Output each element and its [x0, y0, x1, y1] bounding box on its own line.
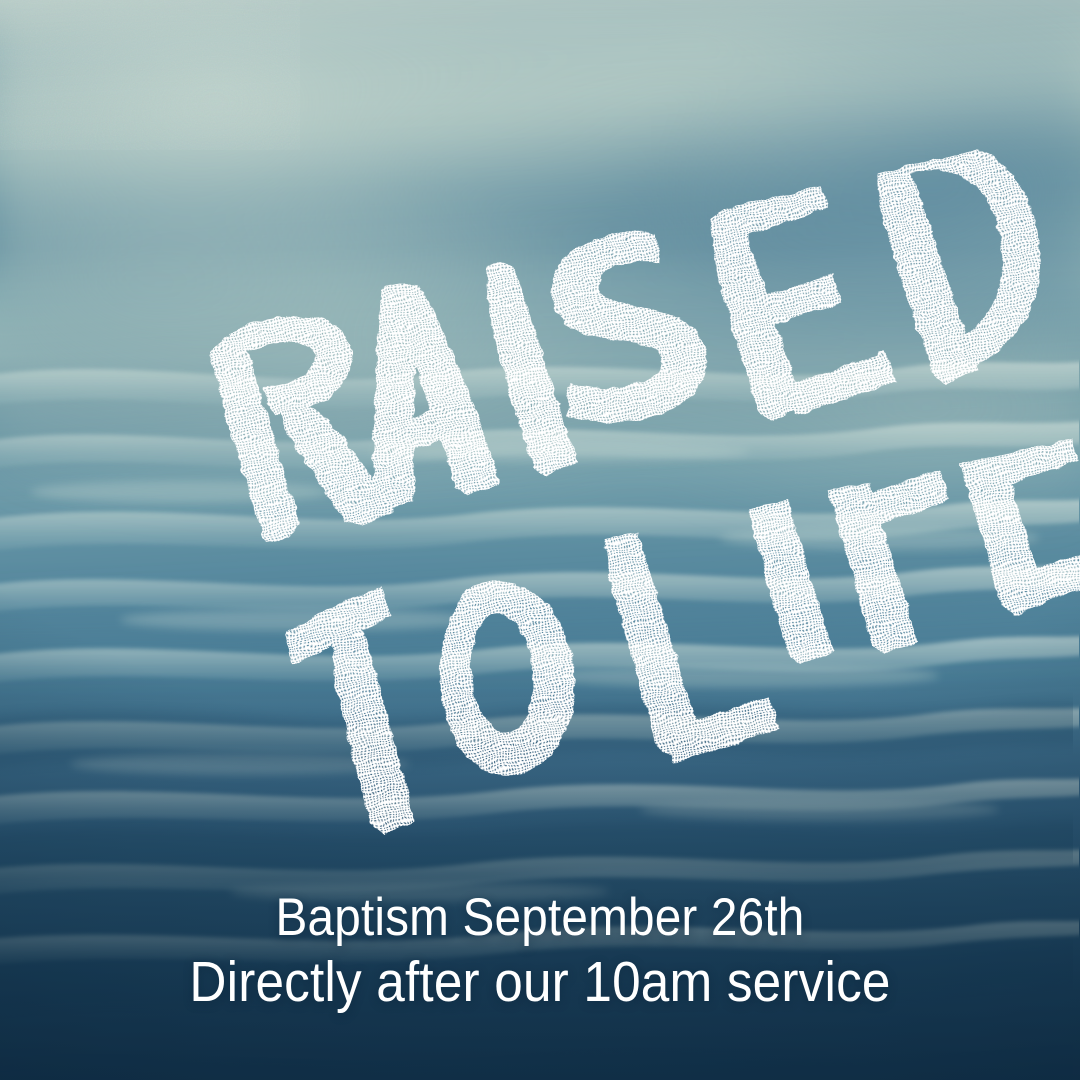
poster-canvas: Baptism September 26th Directly after ou…	[0, 0, 1080, 1080]
event-detail-line-1: Baptism September 26th	[54, 887, 1026, 949]
event-details: Baptism September 26th Directly after ou…	[0, 887, 1080, 1016]
event-detail-line-2: Directly after our 10am service	[54, 949, 1026, 1016]
